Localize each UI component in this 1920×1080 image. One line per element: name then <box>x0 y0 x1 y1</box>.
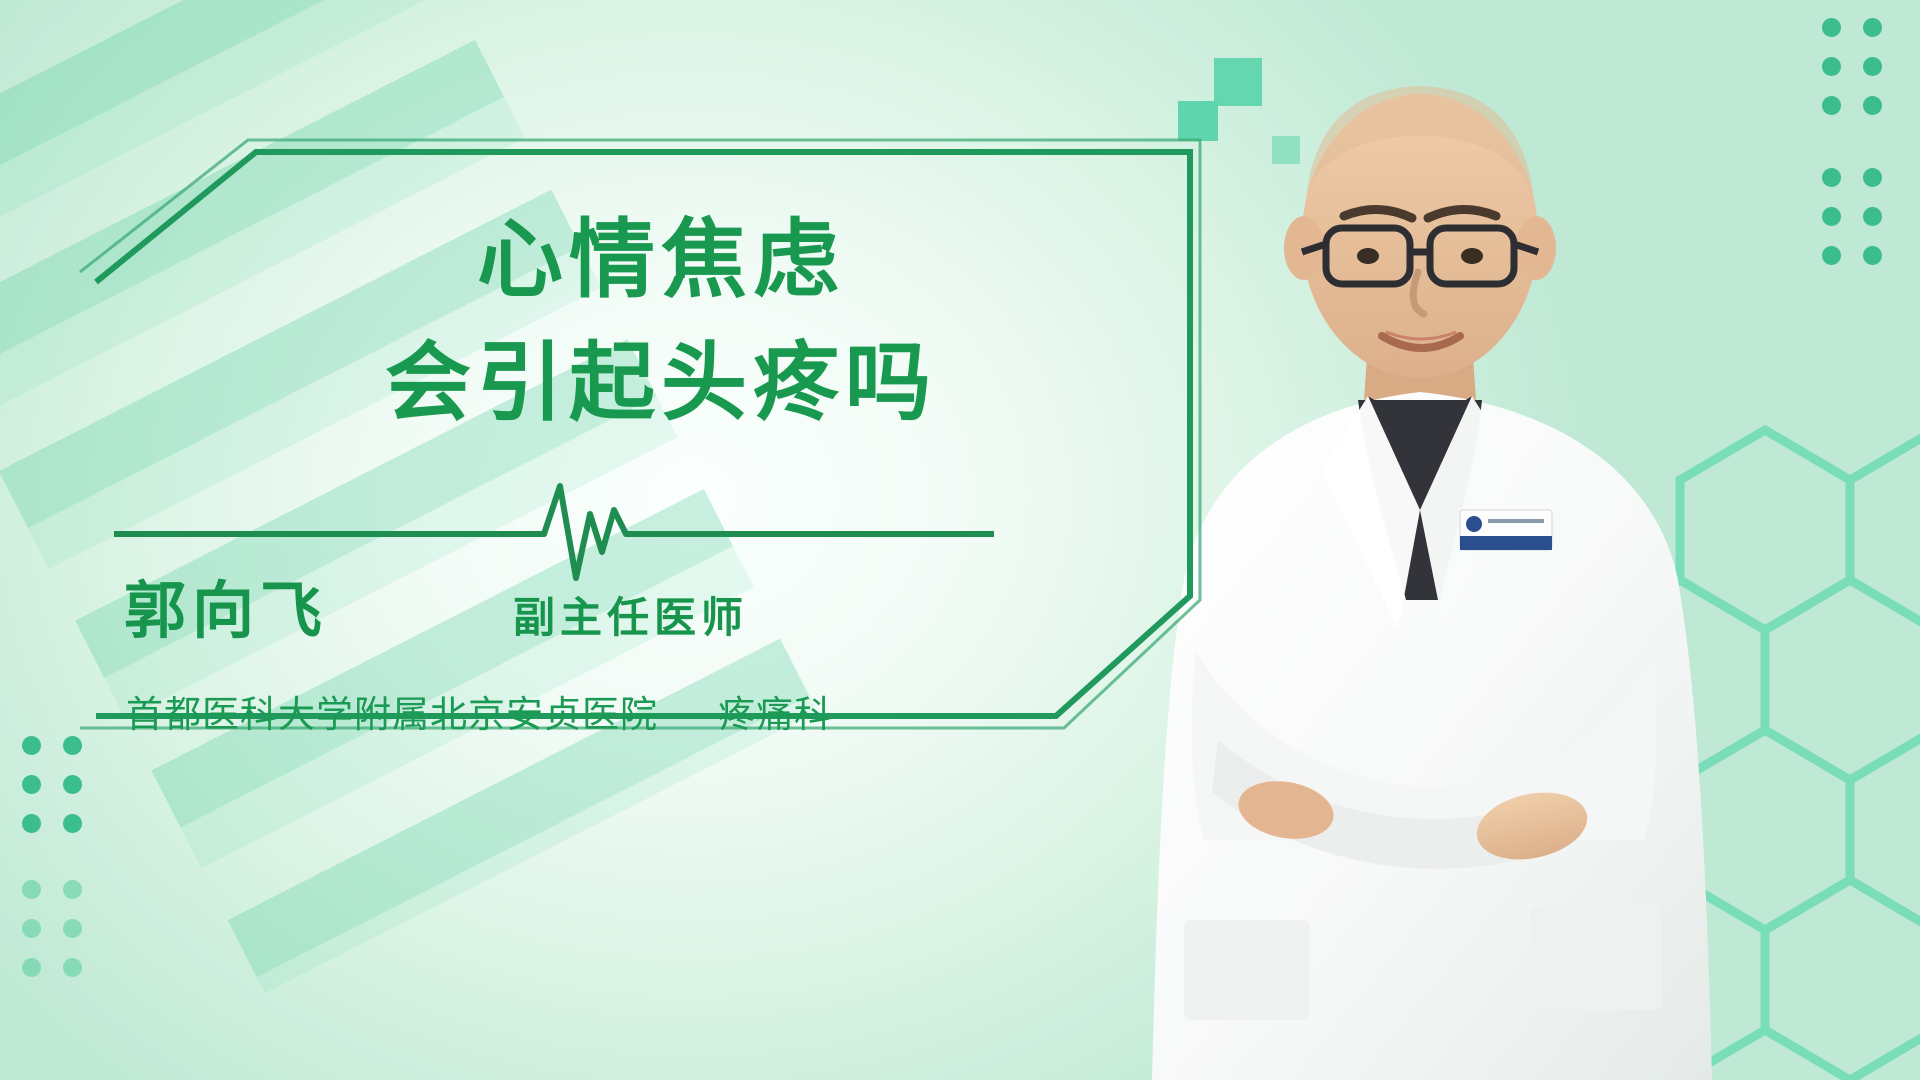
square-accent-icon <box>1272 136 1300 164</box>
dot-grid-icon <box>1822 168 1882 265</box>
card-content: 心情焦虑 会引起头疼吗 郭向飞 副主任医师 首都医科大学附属北京安贞医院 疼痛科 <box>96 150 1186 770</box>
affiliation: 首都医科大学附属北京安贞医院 疼痛科 <box>96 684 1186 738</box>
doctor-portrait-icon <box>1100 40 1740 1080</box>
doctor-name: 郭向飞 <box>124 560 328 650</box>
page-title: 心情焦虑 会引起头疼吗 <box>96 208 1186 436</box>
hospital-name: 首都医科大学附属北京安贞医院 <box>126 684 658 738</box>
doctor-credits: 郭向飞 副主任医师 <box>96 560 1186 650</box>
square-accent-icon <box>1214 58 1262 106</box>
department-name: 疼痛科 <box>718 684 832 738</box>
doctor-title: 副主任医师 <box>513 584 748 645</box>
hexagon-pattern-icon <box>1530 420 1920 1080</box>
dot-grid-icon <box>22 736 82 833</box>
thumbnail-card: 心情焦虑 会引起头疼吗 郭向飞 副主任医师 首都医科大学附属北京安贞医院 疼痛科 <box>0 0 1920 1080</box>
title-line-2: 会引起头疼吗 <box>136 331 1186 436</box>
dot-grid-icon <box>1822 18 1882 115</box>
square-accent-icon <box>1178 101 1218 141</box>
title-line-1: 心情焦虑 <box>136 208 1186 313</box>
dot-grid-icon <box>22 880 82 977</box>
